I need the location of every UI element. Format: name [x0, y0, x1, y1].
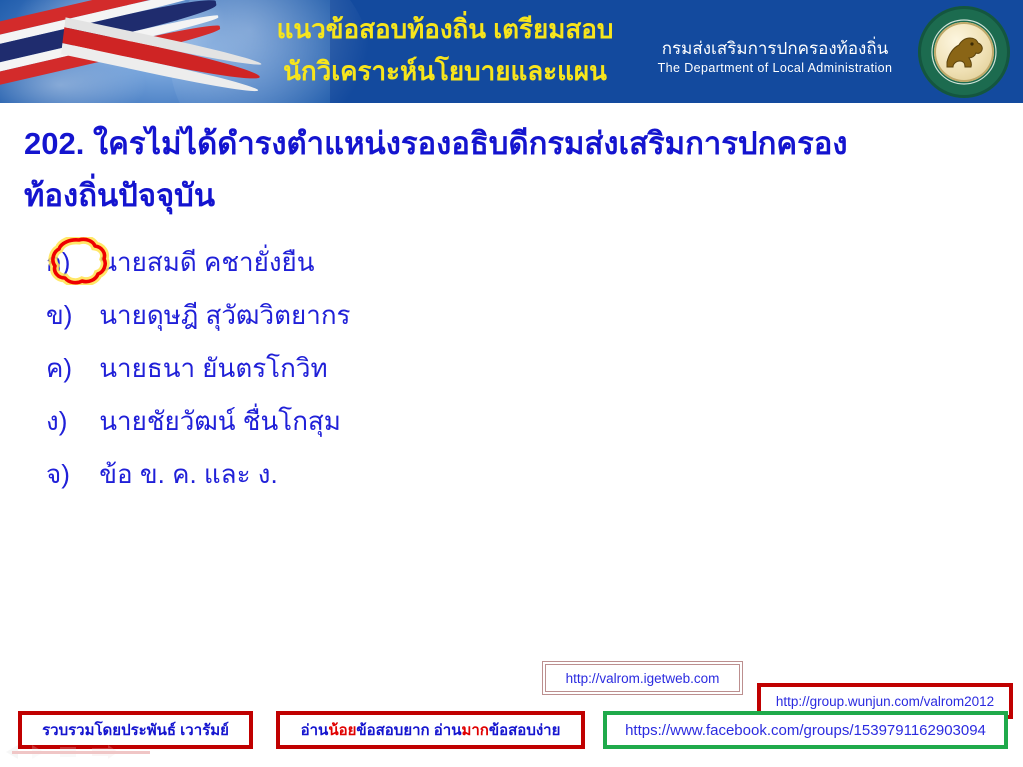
choice-text: นายชัยวัฒน์ ชื่นโกสุม	[99, 395, 341, 448]
slideshow-navigation-controls[interactable]	[4, 741, 154, 763]
motto-part-3: ข้อสอบง่าย	[489, 718, 560, 742]
website-url-box[interactable]: http://valrom.igetweb.com	[542, 661, 743, 695]
department-name: กรมส่งเสริมการปกครองท้องถิ่น The Departm…	[640, 38, 910, 77]
author-credit-text: รวบรวมโดยประพันธ์ เวารัมย์	[42, 718, 229, 742]
banner-title: แนวข้อสอบท้องถิ่น เตรียมสอบ นักวิเคราะห์…	[215, 8, 675, 92]
choice-option-ngo[interactable]: ง) นายชัยวัฒน์ ชื่นโกสุม	[30, 395, 730, 448]
choice-letter: ค)	[30, 342, 92, 395]
motto-box: อ่านน้อยข้อสอบยาก อ่านมากข้อสอบง่าย	[276, 711, 585, 749]
group-url-text: http://group.wunjun.com/valrom2012	[776, 694, 994, 709]
website-url-text: http://valrom.igetweb.com	[566, 671, 720, 686]
choice-option-cho[interactable]: จ) ข้อ ข. ค. และ ง.	[30, 448, 730, 501]
motto-highlight-2: มาก	[461, 718, 488, 742]
answer-choices-list: ก) นายสมดี คชายั่งยืน ข) นายดุษฎี สุวัฒว…	[30, 236, 730, 501]
question-line-2: ท้องถิ่นปัจจุบัน	[24, 170, 999, 222]
choice-letter: ข)	[30, 289, 92, 342]
choice-text: นายธนา ยันตรโกวิท	[99, 342, 327, 395]
motto-part-2: ข้อสอบยาก อ่าน	[356, 718, 461, 742]
department-name-thai: กรมส่งเสริมการปกครองท้องถิ่น	[640, 38, 910, 60]
nav-underline	[12, 751, 150, 754]
banner-title-line1: แนวข้อสอบท้องถิ่น เตรียมสอบ	[277, 14, 614, 44]
department-seal-icon	[918, 6, 1010, 98]
choice-text: ข้อ ข. ค. และ ง.	[99, 448, 277, 501]
question-line-1: 202. ใครไม่ได้ดำรงตำแหน่งรองอธิบดีกรมส่ง…	[24, 126, 848, 161]
choice-text: นายดุษฎี สุวัฒวิตยากร	[99, 289, 350, 342]
department-name-english: The Department of Local Administration	[640, 60, 910, 77]
choice-letter: ง)	[30, 395, 92, 448]
banner-title-line2: นักวิเคราะห์นโยบายและแผน	[215, 50, 675, 92]
choice-letter: จ)	[30, 448, 92, 501]
facebook-url-box[interactable]: https://www.facebook.com/groups/15397911…	[603, 711, 1008, 749]
question-text: 202. ใครไม่ได้ดำรงตำแหน่งรองอธิบดีกรมส่ง…	[24, 118, 999, 222]
choice-letter: ก)	[30, 236, 92, 289]
choice-text: นายสมดี คชายั่งยืน	[99, 236, 314, 289]
header-banner: แนวข้อสอบท้องถิ่น เตรียมสอบ นักวิเคราะห์…	[0, 0, 1023, 103]
facebook-url-text: https://www.facebook.com/groups/15397911…	[625, 722, 986, 739]
choice-option-kho[interactable]: ข) นายดุษฎี สุวัฒวิตยากร	[30, 289, 730, 342]
motto-part-1: อ่าน	[301, 718, 329, 742]
choice-option-kho2[interactable]: ค) นายธนา ยันตรโกวิท	[30, 342, 730, 395]
motto-highlight-1: น้อย	[328, 718, 356, 742]
choice-option-ka[interactable]: ก) นายสมดี คชายั่งยืน	[30, 236, 730, 289]
